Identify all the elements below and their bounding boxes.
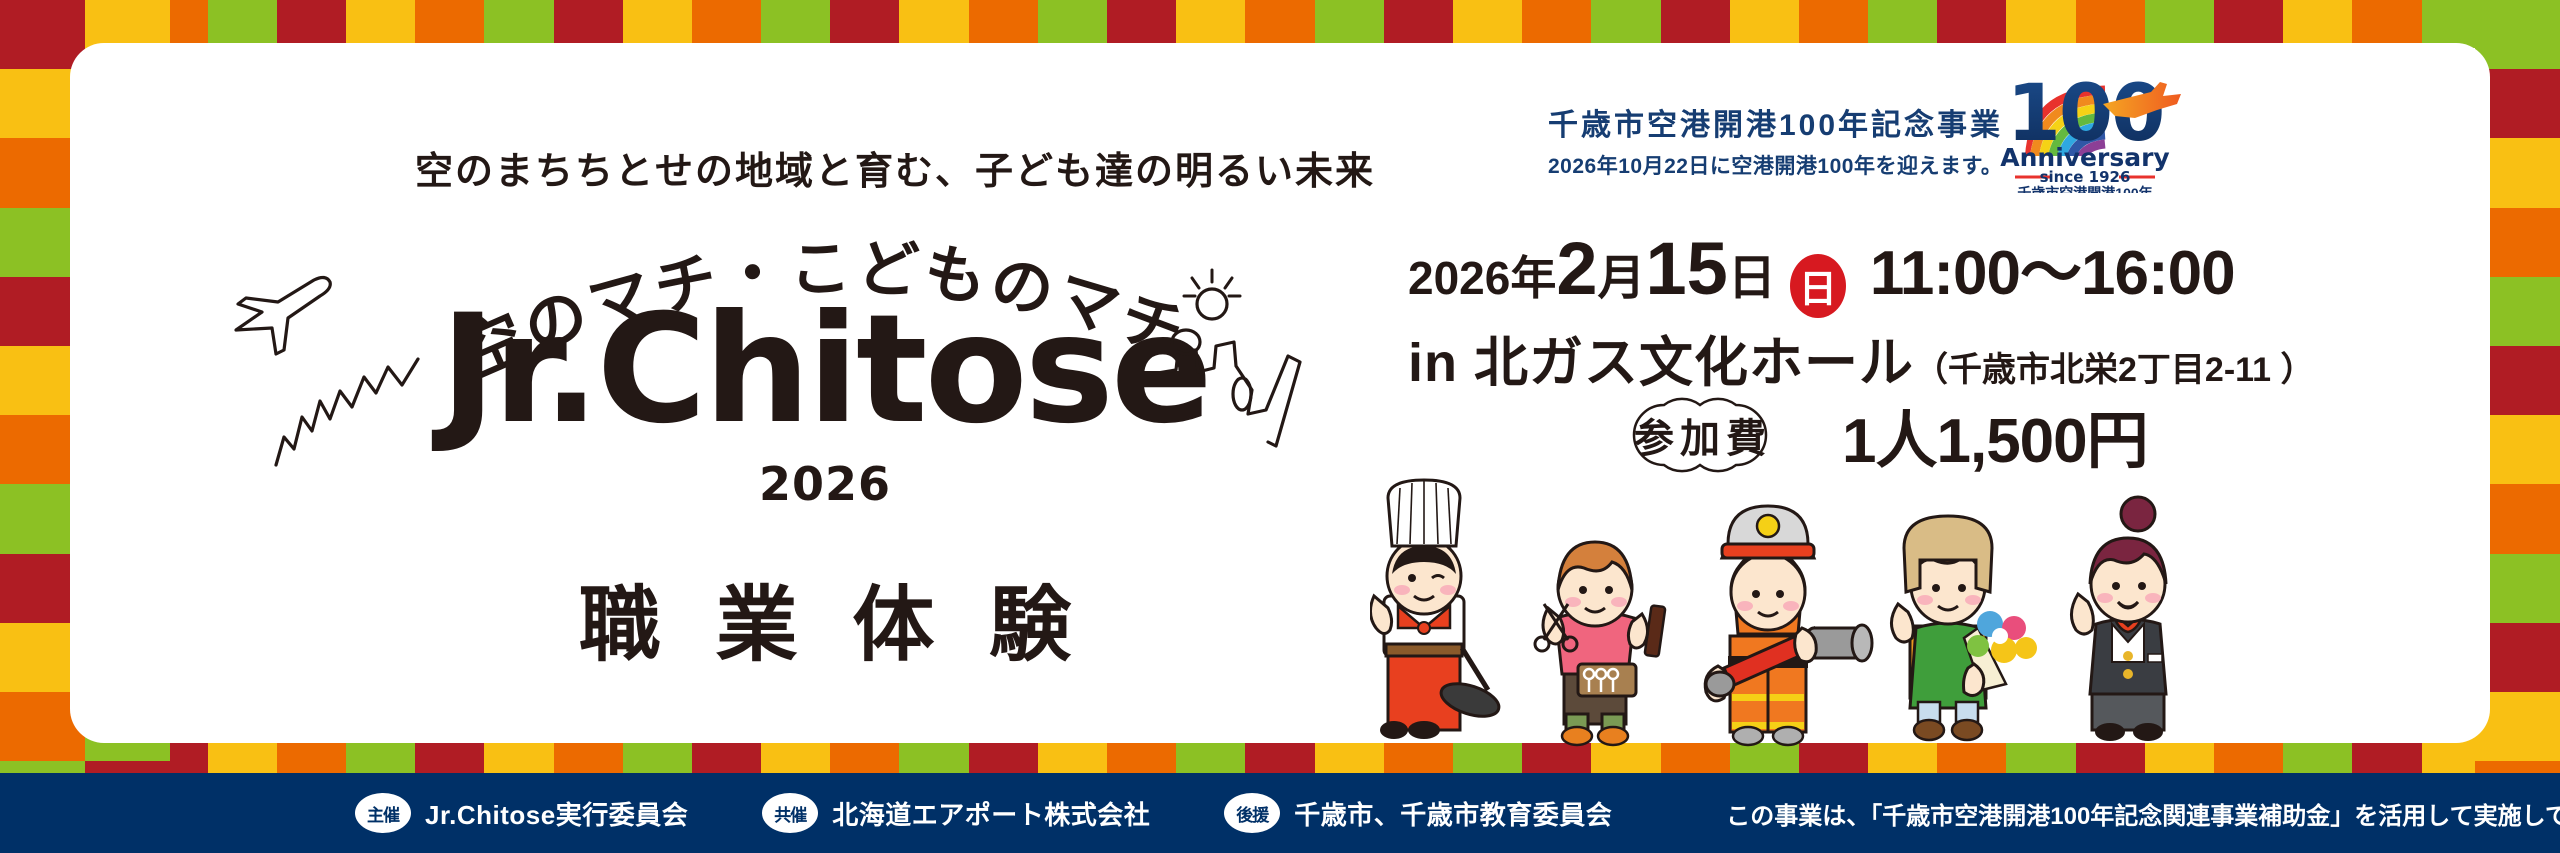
checker-cell — [1107, 0, 1176, 48]
anniversary-caption: 千歳市空港開港100年 — [2017, 185, 2152, 193]
checker-cell — [484, 0, 553, 48]
footer-bar: 主催 Jr.Chitose実行委員会 共催 北海道エアポート株式会社 後援 千歳… — [0, 773, 2560, 853]
checker-cell — [1315, 0, 1384, 48]
checker-cell — [1661, 0, 1730, 48]
venue-name: in 北ガス文化ホール — [1408, 318, 1914, 397]
checker-cell — [277, 0, 346, 48]
checker-cell — [1591, 0, 1660, 48]
checker-cell — [2076, 0, 2145, 48]
credit-item: 主催 Jr.Chitose実行委員会 — [355, 793, 688, 833]
date-day: 15 — [1646, 226, 1728, 311]
credit-badge-host: 主催 — [355, 793, 411, 833]
logo-year: 2026 — [360, 457, 1290, 511]
tagline: 空のまちちとせの地域と育む、子ども達の明るい未来 — [415, 140, 1375, 195]
venue-address: （千歳市北栄2丁目2-11 ） — [1914, 342, 2315, 391]
character-flight-attendant — [2071, 497, 2166, 741]
date-month-unit: 月 — [1598, 238, 1646, 308]
checker-cell — [1453, 0, 1522, 48]
event-date-line: 2026年 2 月 15 日 日 11:00〜16:00 — [1408, 222, 2235, 312]
checker-cell — [623, 0, 692, 48]
anniversary-note: 千歳市空港開港100年記念事業 2026年10月22日に空港開港100年を迎えま… — [1548, 100, 2003, 180]
credit-text-support: 千歳市、千歳市教育委員会 — [1294, 795, 1612, 832]
fee-amount: 1人1,500円 — [1842, 390, 2148, 480]
checker-cell — [2352, 0, 2421, 48]
checker-cell — [0, 0, 85, 69]
credit-badge-cohost: 共催 — [762, 793, 818, 833]
character-hairdresser — [1535, 542, 1665, 745]
fee-line: 参加費 1人1,500円 — [1600, 390, 2148, 480]
anniversary-100-logo: 100 Anniversary since 1926 千歳市空港開港100年 — [1985, 48, 2185, 193]
checker-cell — [1937, 0, 2006, 48]
checker-cell — [969, 0, 1038, 48]
credit-text-host: Jr.Chitose実行委員会 — [425, 795, 688, 832]
subsidy-note: この事業は、「千歳市空港開港100年記念関連事業補助金」を活用して実施しています… — [1726, 796, 2560, 831]
checker-cell — [899, 0, 968, 48]
profession-characters — [1370, 478, 2210, 750]
anniversary-title: 千歳市空港開港100年記念事業 — [1548, 100, 2003, 144]
job-experience-title: 職 業 体 験 — [360, 558, 1290, 677]
date-month: 2 — [1556, 226, 1597, 311]
date-year: 2026年 — [1408, 242, 1556, 308]
event-banner: 空のまちちとせの地域と育む、子ども達の明るい未来 空のマチ・こどものマチ Jr.… — [0, 0, 2560, 853]
checker-cell — [2006, 0, 2075, 48]
checker-cell — [2283, 0, 2352, 48]
anniversary-subtitle: 2026年10月22日に空港開港100年を迎えます。 — [1548, 150, 2003, 180]
checker-cell — [554, 0, 623, 48]
character-chef — [1370, 480, 1502, 739]
event-time: 11:00〜16:00 — [1870, 222, 2235, 312]
checker-cell — [2475, 0, 2560, 69]
character-florist — [1891, 516, 2037, 740]
checker-border-top — [0, 0, 2560, 48]
credit-item: 共催 北海道エアポート株式会社 — [762, 793, 1150, 833]
checker-cell — [346, 0, 415, 48]
venue-line: in 北ガス文化ホール （千歳市北栄2丁目2-11 ） — [1408, 318, 2315, 397]
checker-cell — [1176, 0, 1245, 48]
fee-label: 参加費 — [1600, 394, 1800, 476]
checker-cell — [1730, 0, 1799, 48]
credit-badge-support: 後援 — [1224, 793, 1280, 833]
credit-text-cohost: 北海道エアポート株式会社 — [832, 795, 1150, 832]
fee-badge: 参加費 — [1600, 394, 1800, 476]
credit-item: 後援 千歳市、千歳市教育委員会 — [1224, 793, 1612, 833]
hose-nozzle-icon — [1808, 625, 1872, 661]
checker-cell — [1522, 0, 1591, 48]
checker-cell — [692, 0, 761, 48]
checker-cell — [1245, 0, 1314, 48]
checker-cell — [761, 0, 830, 48]
anniversary-since: since 1926 — [2040, 168, 2131, 186]
weekday-badge: 日 — [1790, 254, 1846, 318]
skyline-icon — [268, 345, 458, 475]
checker-cell — [1799, 0, 1868, 48]
checker-cell — [830, 0, 899, 48]
character-firefighter — [1705, 506, 1872, 745]
checker-cell — [415, 0, 484, 48]
date-day-unit: 日 — [1728, 238, 1776, 308]
checker-cell — [2145, 0, 2214, 48]
checker-cell — [208, 0, 277, 48]
checker-cell — [2214, 0, 2283, 48]
checker-cell — [1384, 0, 1453, 48]
checker-cell — [1038, 0, 1107, 48]
checker-cell — [1868, 0, 1937, 48]
building-icon — [1148, 322, 1308, 462]
